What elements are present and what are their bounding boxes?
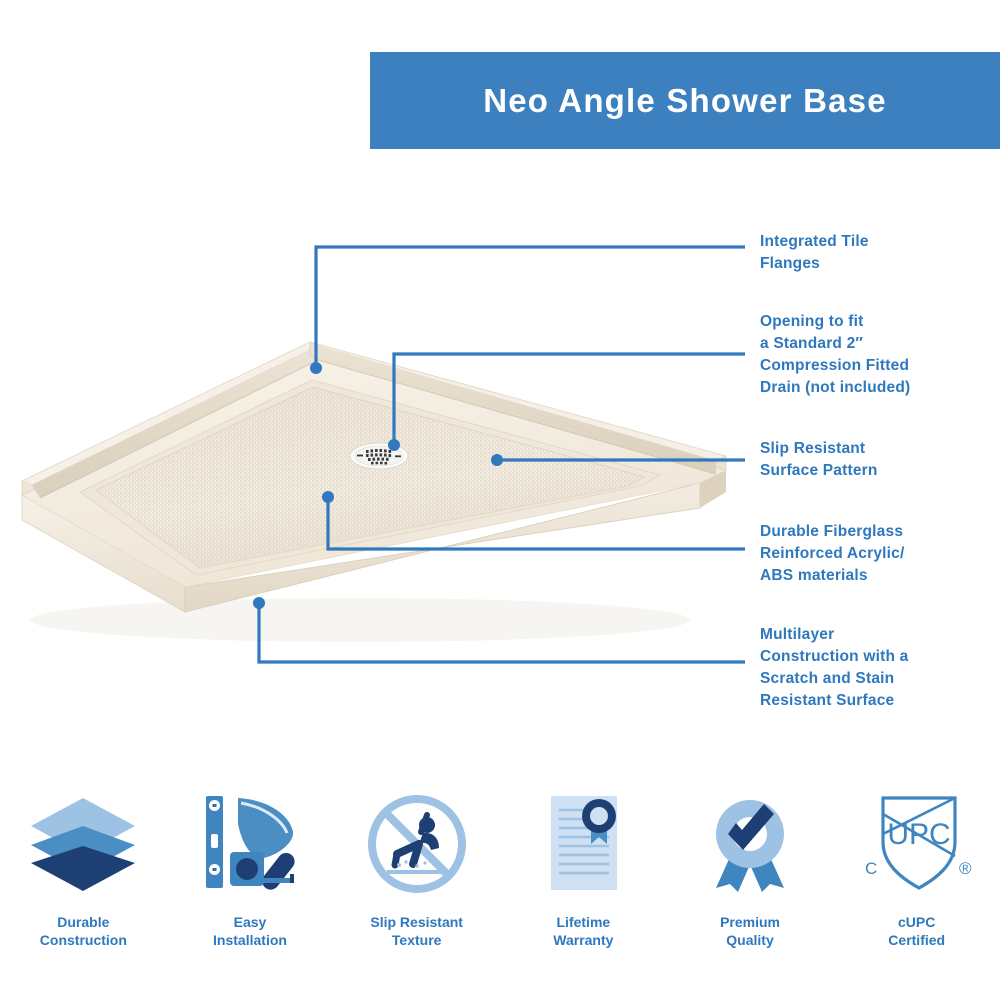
upc-shield-icon: UPC C ® (855, 788, 979, 900)
product-illustration (0, 320, 760, 660)
feature-premium-quality: Premium Quality (667, 788, 834, 968)
feature-slip-resistant: Slip Resistant Texture (333, 788, 500, 968)
callout-label-multilayer: Multilayer Construction with a Scratch a… (760, 624, 908, 712)
feature-durable-construction: Durable Construction (0, 788, 167, 968)
infographic-page: Neo Angle Shower Base (0, 0, 1000, 1000)
stacked-layers-icon (27, 788, 139, 900)
upc-shield-text: UPC (887, 818, 950, 851)
feature-label-easy-installation: Easy Installation (213, 914, 287, 950)
feature-cupc-certified: UPC C ® cUPC Certified (833, 788, 1000, 968)
check-rosette-icon (694, 788, 806, 900)
callout-label-durable-fiberglass: Durable Fiberglass Reinforced Acrylic/ A… (760, 521, 905, 587)
upc-prefix-mark: C (865, 859, 877, 878)
feature-label-durable-construction: Durable Construction (40, 914, 127, 950)
certificate-icon (527, 788, 639, 900)
callout-label-drain-opening: Opening to fit a Standard 2″ Compression… (760, 311, 910, 399)
product-shadow (30, 598, 690, 642)
drain (350, 443, 408, 469)
callout-label-integrated-tile-flanges: Integrated Tile Flanges (760, 231, 869, 275)
feature-label-premium-quality: Premium Quality (720, 914, 780, 950)
feature-label-slip-resistant: Slip Resistant Texture (370, 914, 463, 950)
upc-registered-mark: ® (959, 859, 972, 878)
feature-row: Durable Construction (0, 788, 1000, 968)
feature-label-cupc-certified: cUPC Certified (888, 914, 945, 950)
page-title: Neo Angle Shower Base (483, 82, 887, 120)
level-trowel-icon (194, 788, 306, 900)
feature-label-lifetime-warranty: Lifetime Warranty (553, 914, 613, 950)
title-banner: Neo Angle Shower Base (370, 52, 1000, 149)
feature-lifetime-warranty: Lifetime Warranty (500, 788, 667, 968)
callout-label-slip-resistant: Slip Resistant Surface Pattern (760, 438, 878, 482)
no-slip-icon (361, 788, 473, 900)
feature-easy-installation: Easy Installation (167, 788, 334, 968)
